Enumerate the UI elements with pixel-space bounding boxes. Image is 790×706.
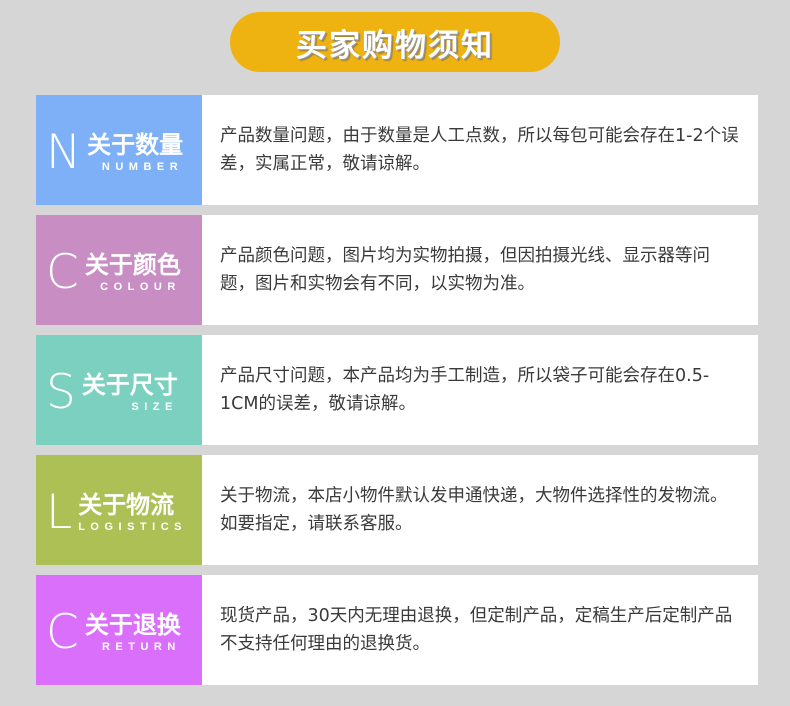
notice-text: 产品数量问题，由于数量是人工点数，所以每包可能会存在1-2个误差，实属正常，敬请… bbox=[220, 122, 742, 179]
badge-size: S 关于尺寸 SIZE bbox=[36, 335, 202, 445]
badge-letter-icon: C bbox=[46, 609, 79, 656]
page-title-pill: 买家购物须知 bbox=[230, 12, 560, 72]
notice-text: 关于物流，本店小物件默认发申通快递，大物件选择性的发物流。如要指定，请联系客服。 bbox=[220, 482, 742, 539]
badge-title-en: NUMBER bbox=[87, 161, 183, 173]
page-title-container: 买家购物须知 bbox=[0, 12, 790, 72]
notice-text: 产品尺寸问题，本产品均为手工制造，所以袋子可能会存在0.5-1CM的误差，敬请谅… bbox=[220, 362, 742, 419]
notice-row-size: S 关于尺寸 SIZE 产品尺寸问题，本产品均为手工制造，所以袋子可能会存在0.… bbox=[36, 335, 758, 445]
badge-letter-icon: L bbox=[46, 489, 72, 536]
badge-title-en: SIZE bbox=[82, 401, 178, 413]
shopping-notice-page: 买家购物须知 N 关于数量 NUMBER 产品数量问题，由于数量是人工点数，所以… bbox=[0, 0, 790, 706]
notice-row-return: C 关于退换 RETURN 现货产品，30天内无理由退换，但定制产品，定稿生产后… bbox=[36, 575, 758, 685]
badge-title-cn: 关于颜色 bbox=[85, 253, 181, 278]
notice-body-colour: 产品颜色问题，图片均为实物拍摄，但因拍摄光线、显示器等问题，图片和实物会有不同，… bbox=[202, 215, 758, 325]
badge-letter-icon: S bbox=[46, 369, 76, 416]
badge-title-cn: 关于数量 bbox=[87, 133, 183, 158]
notice-row-logistics: L 关于物流 LOGISTICS 关于物流，本店小物件默认发申通快递，大物件选择… bbox=[36, 455, 758, 565]
badge-logistics: L 关于物流 LOGISTICS bbox=[36, 455, 202, 565]
badge-letter-icon: N bbox=[46, 129, 81, 176]
notice-text: 现货产品，30天内无理由退换，但定制产品，定稿生产后定制产品不支持任何理由的退换… bbox=[220, 602, 742, 659]
badge-number: N 关于数量 NUMBER bbox=[36, 95, 202, 205]
notice-text: 产品颜色问题，图片均为实物拍摄，但因拍摄光线、显示器等问题，图片和实物会有不同，… bbox=[220, 242, 742, 299]
badge-return: C 关于退换 RETURN bbox=[36, 575, 202, 685]
notice-body-return: 现货产品，30天内无理由退换，但定制产品，定稿生产后定制产品不支持任何理由的退换… bbox=[202, 575, 758, 685]
page-title: 买家购物须知 bbox=[296, 20, 494, 65]
badge-title-en: COLOUR bbox=[85, 281, 181, 293]
notice-row-number: N 关于数量 NUMBER 产品数量问题，由于数量是人工点数，所以每包可能会存在… bbox=[36, 95, 758, 205]
badge-title-en: RETURN bbox=[85, 641, 181, 653]
badge-colour: C 关于颜色 COLOUR bbox=[36, 215, 202, 325]
badge-title-cn: 关于物流 bbox=[78, 493, 187, 518]
notice-list: N 关于数量 NUMBER 产品数量问题，由于数量是人工点数，所以每包可能会存在… bbox=[36, 95, 758, 685]
badge-title-cn: 关于尺寸 bbox=[82, 373, 178, 398]
notice-body-logistics: 关于物流，本店小物件默认发申通快递，大物件选择性的发物流。如要指定，请联系客服。 bbox=[202, 455, 758, 565]
badge-title-cn: 关于退换 bbox=[85, 613, 181, 638]
notice-body-size: 产品尺寸问题，本产品均为手工制造，所以袋子可能会存在0.5-1CM的误差，敬请谅… bbox=[202, 335, 758, 445]
badge-title-en: LOGISTICS bbox=[78, 521, 187, 533]
badge-letter-icon: C bbox=[46, 249, 79, 296]
notice-body-number: 产品数量问题，由于数量是人工点数，所以每包可能会存在1-2个误差，实属正常，敬请… bbox=[202, 95, 758, 205]
notice-row-colour: C 关于颜色 COLOUR 产品颜色问题，图片均为实物拍摄，但因拍摄光线、显示器… bbox=[36, 215, 758, 325]
